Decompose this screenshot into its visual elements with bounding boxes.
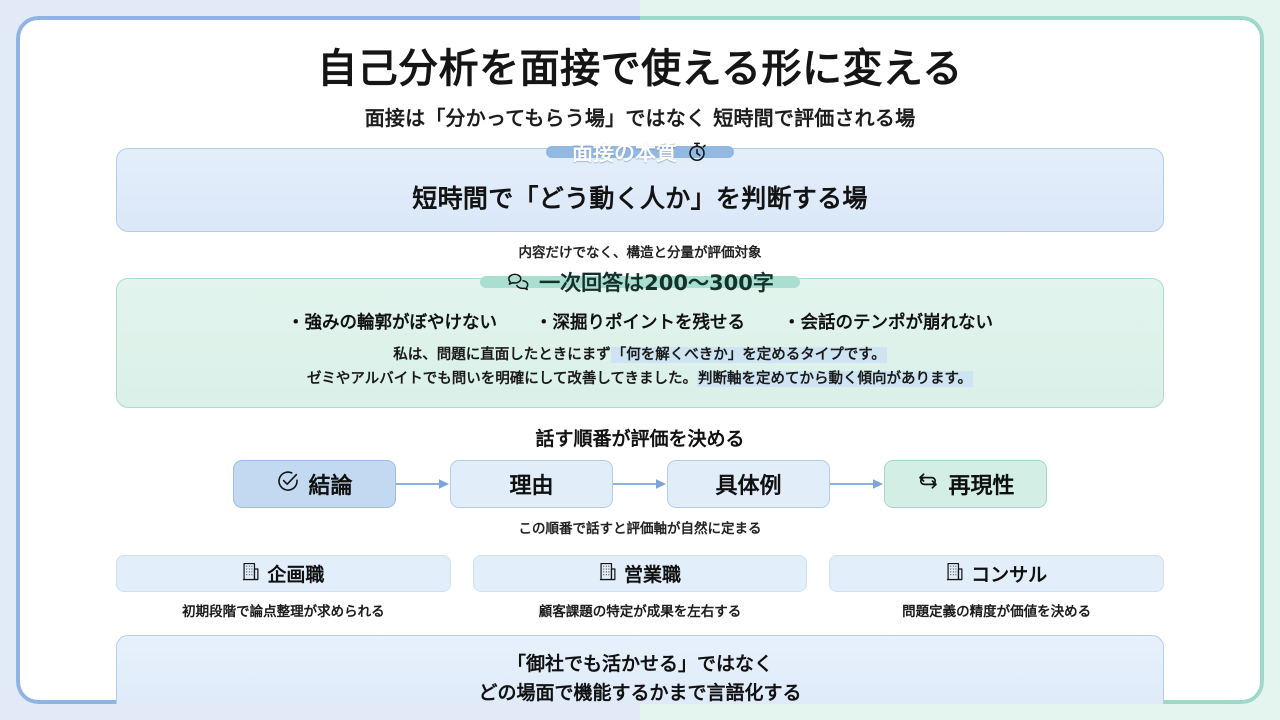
check-circle-icon [276, 469, 300, 499]
closing-line-1: 「御社でも活かせる」ではなく [137, 650, 1143, 679]
stopwatch-icon [686, 141, 708, 163]
job-card-sales-chip: 営業職 [473, 555, 808, 592]
answer-example-line-1-plain: 私は、問題に直面したときにまず [393, 347, 611, 363]
job-card-sales-label: 営業職 [624, 560, 681, 587]
flow-step-reproducibility-label: 再現性 [948, 468, 1014, 500]
answer-bullet-2: ・深掘りポイントを残せる [535, 309, 745, 334]
answer-bullet-1: ・強みの輪郭がぼやけない [287, 309, 497, 334]
chat-bubbles-icon [506, 271, 530, 293]
jobs-row: 企画職 初期段階で論点整理が求められる [116, 555, 1164, 620]
answer-example-line-2-plain: ゼミやアルバイトでも問いを明確にして改善してきました。 [307, 371, 697, 387]
flow-step-example-label: 具体例 [715, 468, 781, 500]
job-card-consulting-chip: コンサル [829, 555, 1164, 592]
answer-bullets: ・強みの輪郭がぼやけない ・深掘りポイントを残せる ・会話のテンポが崩れない [141, 309, 1139, 334]
page-title: 自己分析を面接で使える形に変える [116, 46, 1164, 93]
flow-step-conclusion-label: 結論 [308, 468, 352, 500]
answer-example: 私は、問題に直面したときにまず「何を解くべきか」を定めるタイプです。 ゼミやアル… [141, 344, 1139, 391]
job-card-planning[interactable]: 企画職 初期段階で論点整理が求められる [116, 555, 451, 620]
closing-panel: 「御社でも活かせる」ではなく どの場面で機能するかまで言語化する [116, 635, 1164, 704]
flow-step-reason-label: 理由 [509, 468, 553, 500]
job-card-planning-desc: 初期段階で論点整理が求められる [116, 600, 451, 620]
answer-example-line-1: 私は、問題に直面したときにまず「何を解くべきか」を定めるタイプです。 [141, 344, 1139, 367]
answer-example-line-2: ゼミやアルバイトでも問いを明確にして改善してきました。判断軸を定めてから動く傾向… [141, 368, 1139, 391]
essence-section: 面接の本質 [116, 148, 1164, 261]
flow-arrow-3 [830, 477, 884, 491]
refresh-cycle-icon [916, 469, 940, 499]
answer-bullet-3: ・会話のテンポが崩れない [783, 309, 993, 334]
flow-title: 話す順番が評価を決める [116, 424, 1164, 451]
flow-step-example[interactable]: 具体例 [667, 460, 830, 508]
closing-line-2: どの場面で機能するかまで言語化する [137, 679, 1143, 704]
building-icon [242, 562, 259, 586]
building-icon [599, 562, 616, 586]
flow-arrow-1 [396, 477, 450, 491]
flow-arrow-2 [613, 477, 667, 491]
job-card-consulting[interactable]: コンサル 問題定義の精度が価値を決める [829, 555, 1164, 620]
essence-badge-label: 面接の本質 [572, 137, 677, 167]
answer-example-line-2-highlight: 判断軸を定めてから動く傾向があります。 [697, 371, 973, 387]
job-card-sales-desc: 顧客課題の特定が成果を左右する [473, 600, 808, 620]
card-content: 自己分析を面接で使える形に変える 面接は「分かってもらう場」ではなく 短時間で評… [16, 16, 1264, 704]
slide-card: 自己分析を面接で使える形に変える 面接は「分かってもらう場」ではなく 短時間で評… [16, 16, 1264, 704]
slide-root: 自己分析を面接で使える形に変える 面接は「分かってもらう場」ではなく 短時間で評… [0, 0, 1280, 720]
job-card-consulting-label: コンサル [971, 560, 1047, 587]
job-card-planning-label: 企画職 [267, 560, 324, 587]
page-subtitle: 面接は「分かってもらう場」ではなく 短時間で評価される場 [116, 102, 1164, 131]
flow-row: 結論 理由 [116, 460, 1164, 508]
answer-example-line-1-highlight: 「何を解くべきか」を定めるタイプです。 [611, 347, 887, 363]
answer-badge-label: 一次回答は200〜300字 [539, 267, 774, 297]
answer-panel: ・強みの輪郭がぼやけない ・深掘りポイントを残せる ・会話のテンポが崩れない 私… [116, 278, 1164, 408]
essence-headline: 短時間で「どう動く人か」を判断する場 [141, 179, 1139, 215]
flow-section: 話す順番が評価を決める 結論 [116, 424, 1164, 537]
essence-caption: 内容だけでなく、構造と分量が評価対象 [116, 241, 1164, 261]
flow-step-reason[interactable]: 理由 [450, 460, 613, 508]
essence-badge: 面接の本質 [546, 146, 734, 158]
answer-section: 一次回答は200〜300字 ・強みの輪郭がぼやけない ・深掘りポイントを残せる … [116, 278, 1164, 408]
job-card-sales[interactable]: 営業職 顧客課題の特定が成果を左右する [473, 555, 808, 620]
building-icon [946, 562, 963, 586]
flow-step-conclusion[interactable]: 結論 [233, 460, 396, 508]
flow-step-reproducibility[interactable]: 再現性 [884, 460, 1047, 508]
job-card-planning-chip: 企画職 [116, 555, 451, 592]
answer-badge: 一次回答は200〜300字 [480, 276, 800, 288]
job-card-consulting-desc: 問題定義の精度が価値を決める [829, 600, 1164, 620]
flow-caption: この順番で話すと評価軸が自然に定まる [116, 517, 1164, 537]
